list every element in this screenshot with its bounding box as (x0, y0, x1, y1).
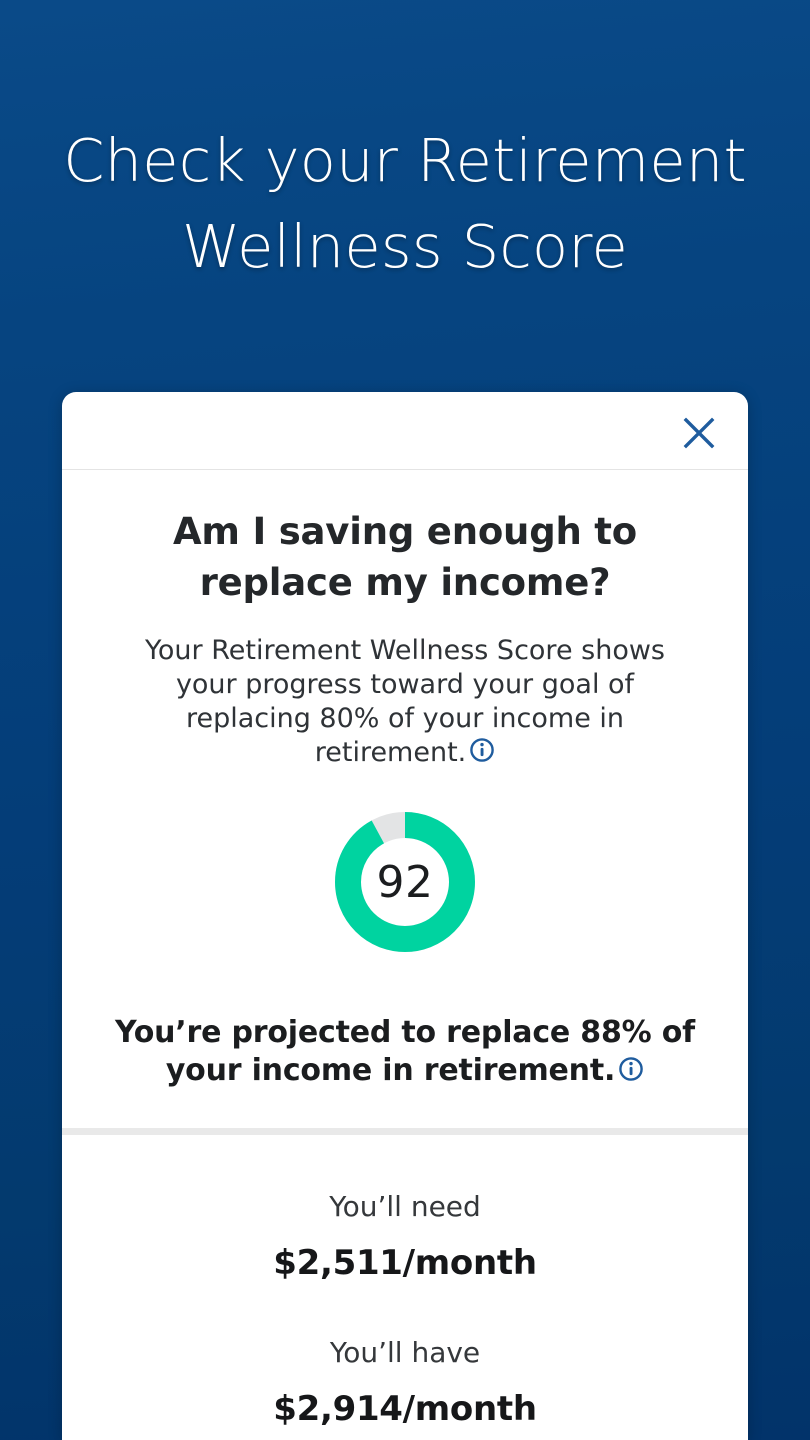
projected-text: You’re projected to replace 88% of your … (102, 1014, 708, 1090)
figure-block: You’ll need $2,511/month (62, 1189, 748, 1285)
info-icon[interactable] (469, 737, 495, 763)
projected-copy: You’re projected to replace 88% of your … (115, 1015, 695, 1088)
description-text: Your Retirement Wellness Score shows you… (102, 634, 708, 770)
score-value: 92 (335, 812, 475, 952)
wellness-score-card: Am I saving enough to replace my income?… (62, 392, 748, 1440)
figure-amount: $2,511/month (62, 1241, 748, 1285)
figure-label: You’ll have (62, 1335, 748, 1371)
close-icon (682, 416, 716, 450)
close-button[interactable] (674, 408, 724, 458)
section-divider (62, 1128, 748, 1135)
page-title: Check your Retirement Wellness Score (22, 118, 788, 290)
score-gauge: 92 (335, 812, 475, 952)
question-heading: Am I saving enough to replace my income? (102, 506, 708, 608)
score-gauge-wrap: 92 (102, 812, 708, 952)
figure-amount: $2,914/month (62, 1387, 748, 1431)
description-copy: Your Retirement Wellness Score shows you… (145, 635, 665, 768)
figure-label: You’ll need (62, 1189, 748, 1225)
figure-block: You’ll have $2,914/month (62, 1335, 748, 1431)
hero-section: Check your Retirement Wellness Score (0, 0, 810, 290)
figures-section: You’ll need $2,511/month You’ll have $2,… (62, 1135, 748, 1431)
card-body: Am I saving enough to replace my income?… (62, 470, 748, 1090)
page-title-line-1: Check your Retirement (22, 118, 788, 204)
card-header (62, 392, 748, 470)
page-title-line-2: Wellness Score (22, 204, 788, 290)
info-icon[interactable] (618, 1056, 644, 1082)
